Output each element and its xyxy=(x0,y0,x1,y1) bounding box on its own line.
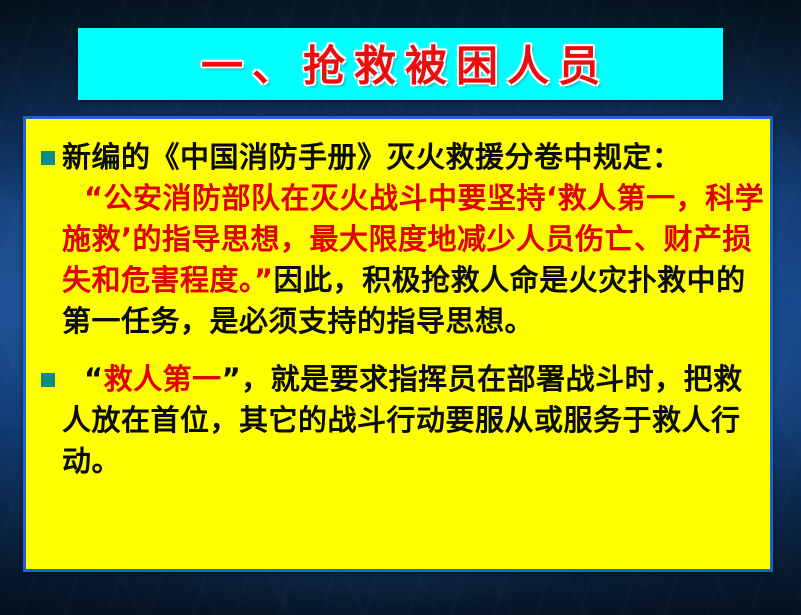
run-1-1: 新编的《中国消防手册》灭火救援分卷中规定： xyxy=(62,140,682,174)
presentation-slide: 一、抢救被困人员 新编的《中国消防手册》灭火救援分卷中规定：“公安消防部队在灭火… xyxy=(0,0,801,615)
paragraph-2-text: “救人第一”，就是要求指挥员在部署战斗时，把救人放在首位，其它的战斗行动要服从或… xyxy=(62,359,770,482)
paragraph-1-text: 新编的《中国消防手册》灭火救援分卷中规定：“公安消防部队在灭火战斗中要坚持‘救人… xyxy=(62,137,770,342)
square-bullet-icon xyxy=(41,373,55,387)
run-2-2: 救人第一 xyxy=(104,362,222,396)
title-banner: 一、抢救被困人员 xyxy=(78,28,723,100)
content-panel: 新编的《中国消防手册》灭火救援分卷中规定：“公安消防部队在灭火战斗中要坚持‘救人… xyxy=(23,116,773,572)
page-title: 一、抢救被困人员 xyxy=(78,32,723,93)
square-bullet-icon xyxy=(41,151,55,165)
bullet-paragraph-1: 新编的《中国消防手册》灭火救援分卷中规定：“公安消防部队在灭火战斗中要坚持‘救人… xyxy=(26,137,770,342)
run-2-1: “ xyxy=(84,362,104,396)
bullet-paragraph-2: “救人第一”，就是要求指挥员在部署战斗时，把救人放在首位，其它的战斗行动要服从或… xyxy=(26,359,770,482)
